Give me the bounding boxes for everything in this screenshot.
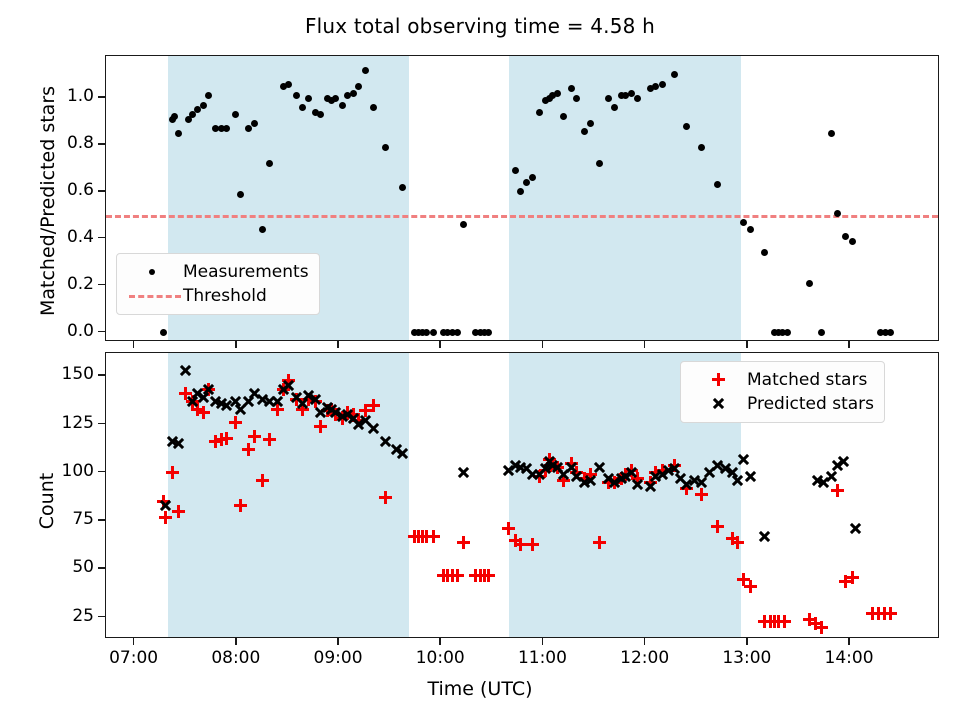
x-tickmark (439, 341, 441, 348)
data-point-plus (314, 420, 327, 433)
data-point-dot (747, 226, 754, 233)
data-point-dot (784, 329, 791, 336)
data-point-dot (523, 179, 530, 186)
dashed-line-icon (127, 286, 183, 306)
y-tickmark (98, 331, 105, 333)
data-point-dot (355, 83, 362, 90)
y-tick-label: 125 (20, 413, 94, 433)
y-tick-label: 0.4 (20, 227, 94, 247)
dot-glyph (149, 269, 155, 275)
legend-label: Predicted stars (747, 392, 874, 417)
data-point-plus (427, 530, 440, 543)
legend-item: Predicted stars (691, 392, 874, 416)
data-point-plus (172, 505, 185, 518)
plus-glyph (712, 373, 725, 386)
y-tickmark (98, 471, 105, 473)
y-tickmark (98, 567, 105, 569)
data-point-cross (396, 447, 409, 460)
cross-icon (691, 394, 747, 414)
data-point-cross (837, 455, 850, 468)
data-point-dot (305, 95, 312, 102)
data-point-plus (482, 569, 495, 582)
data-point-dot (362, 67, 369, 74)
figure-root: Flux total observing time = 4.58 h Match… (0, 0, 960, 720)
y-tick-label: 50 (20, 557, 94, 577)
data-point-plus (367, 399, 380, 412)
y-tickmark (98, 143, 105, 145)
data-point-dot (581, 128, 588, 135)
data-point-plus (234, 499, 247, 512)
y-tick-label: 0.8 (20, 133, 94, 153)
y-tick-label: 1.0 (20, 86, 94, 106)
data-point-plus (731, 536, 744, 549)
data-point-dot (175, 130, 182, 137)
y-tickmark (98, 616, 105, 618)
cross-glyph (712, 397, 725, 410)
data-point-cross (271, 395, 284, 408)
data-point-cross (159, 499, 172, 512)
y-tickmark (98, 190, 105, 192)
x-tickmark (746, 638, 748, 645)
bottom-panel-legend[interactable]: Matched starsPredicted stars (680, 361, 885, 423)
x-tickmark (644, 638, 646, 645)
x-tick-label: 12:00 (595, 648, 695, 668)
data-point-dot (761, 249, 768, 256)
x-tickmark (644, 341, 646, 348)
data-point-dot (536, 109, 543, 116)
data-point-cross (744, 470, 757, 483)
data-point-plus (379, 491, 392, 504)
data-point-plus (248, 430, 261, 443)
top-panel-legend[interactable]: MeasurementsThreshold (116, 253, 320, 315)
data-point-dot (160, 329, 167, 336)
legend-label: Measurements (183, 260, 309, 285)
y-tick-label: 100 (20, 461, 94, 481)
data-point-plus (451, 569, 464, 582)
legend-label: Threshold (183, 284, 267, 309)
data-point-dot (740, 219, 747, 226)
data-point-plus (831, 484, 844, 497)
data-point-plus (166, 466, 179, 479)
dash-glyph (129, 295, 181, 298)
x-tick-label: 08:00 (186, 648, 286, 668)
data-point-dot (887, 329, 894, 336)
x-tick-label: 11:00 (492, 648, 592, 668)
x-tickmark (235, 341, 237, 348)
x-tick-label: 10:00 (390, 648, 490, 668)
data-point-dot (834, 210, 841, 217)
legend-item: Threshold (127, 284, 309, 308)
data-point-plus (815, 621, 828, 634)
y-tickmark (98, 374, 105, 376)
x-tickmark (848, 341, 850, 348)
data-point-dot (454, 329, 461, 336)
x-tick-label: 14:00 (799, 648, 899, 668)
data-point-plus (711, 520, 724, 533)
data-point-dot (634, 95, 641, 102)
data-point-cross (758, 530, 771, 543)
y-tick-label: 75 (20, 509, 94, 529)
figure-title: Flux total observing time = 4.58 h (0, 14, 960, 38)
data-point-plus (778, 615, 791, 628)
x-tickmark (337, 638, 339, 645)
data-point-dot (460, 221, 467, 228)
data-point-dot (828, 130, 835, 137)
data-point-plus (593, 536, 606, 549)
data-point-dot (293, 92, 300, 99)
y-tick-label: 150 (20, 364, 94, 384)
data-point-cross (457, 466, 470, 479)
x-tickmark (133, 341, 135, 348)
legend-label: Matched stars (747, 368, 867, 393)
y-tickmark (98, 237, 105, 239)
dot-icon (127, 262, 183, 282)
data-point-cross (172, 437, 185, 450)
y-tickmark (98, 284, 105, 286)
data-point-dot (399, 184, 406, 191)
data-point-plus (695, 488, 708, 501)
plus-icon (691, 370, 747, 390)
data-point-cross (631, 478, 644, 491)
data-point-dot (350, 90, 357, 97)
data-point-dot (382, 144, 389, 151)
data-point-dot (849, 238, 856, 245)
data-point-plus (229, 416, 242, 429)
x-tickmark (542, 638, 544, 645)
data-point-dot (245, 125, 252, 132)
data-point-dot (671, 71, 678, 78)
y-tick-label: 0.6 (20, 180, 94, 200)
data-point-plus (242, 443, 255, 456)
data-point-plus (457, 536, 470, 549)
legend-item: Measurements (127, 260, 309, 284)
y-tick-label: 0.0 (20, 321, 94, 341)
data-point-plus (197, 406, 210, 419)
data-point-cross (849, 522, 862, 535)
data-point-plus (846, 571, 859, 584)
data-point-plus (256, 474, 269, 487)
y-tick-label: 25 (20, 606, 94, 626)
x-tickmark (542, 341, 544, 348)
data-point-plus (526, 538, 539, 551)
y-tick-label: 0.2 (20, 274, 94, 294)
y-tickmark (98, 519, 105, 521)
threshold-line (106, 215, 938, 218)
y-tickmark (98, 423, 105, 425)
x-tickmark (133, 638, 135, 645)
data-point-dot (573, 95, 580, 102)
data-point-dot (259, 226, 266, 233)
data-point-cross (584, 474, 597, 487)
data-point-dot (818, 329, 825, 336)
data-point-dot (430, 329, 437, 336)
data-point-cross (309, 393, 322, 406)
data-point-plus (884, 607, 897, 620)
data-point-plus (263, 433, 276, 446)
data-point-dot (659, 81, 666, 88)
data-point-dot (683, 123, 690, 130)
x-tick-label: 07:00 (84, 648, 184, 668)
data-point-plus (159, 511, 172, 524)
x-tickmark (337, 341, 339, 348)
data-point-cross (367, 422, 380, 435)
x-tick-label: 13:00 (697, 648, 797, 668)
data-point-dot (485, 329, 492, 336)
data-point-plus (220, 432, 233, 445)
data-point-dot (200, 102, 207, 109)
y-tickmark (98, 96, 105, 98)
legend-item: Matched stars (691, 368, 874, 392)
data-point-cross (737, 453, 750, 466)
x-tickmark (235, 638, 237, 645)
data-point-plus (744, 580, 757, 593)
data-point-dot (568, 85, 575, 92)
x-tickmark (848, 638, 850, 645)
x-tickmark (746, 341, 748, 348)
data-point-dot (299, 104, 306, 111)
data-point-cross (179, 364, 192, 377)
x-tickmark (439, 638, 441, 645)
data-point-cross (731, 474, 744, 487)
data-point-dot (806, 280, 813, 287)
data-point-dot (339, 102, 346, 109)
x-axis-label: Time (UTC) (0, 678, 960, 700)
data-point-cross (811, 474, 824, 487)
x-tick-label: 09:00 (288, 648, 388, 668)
